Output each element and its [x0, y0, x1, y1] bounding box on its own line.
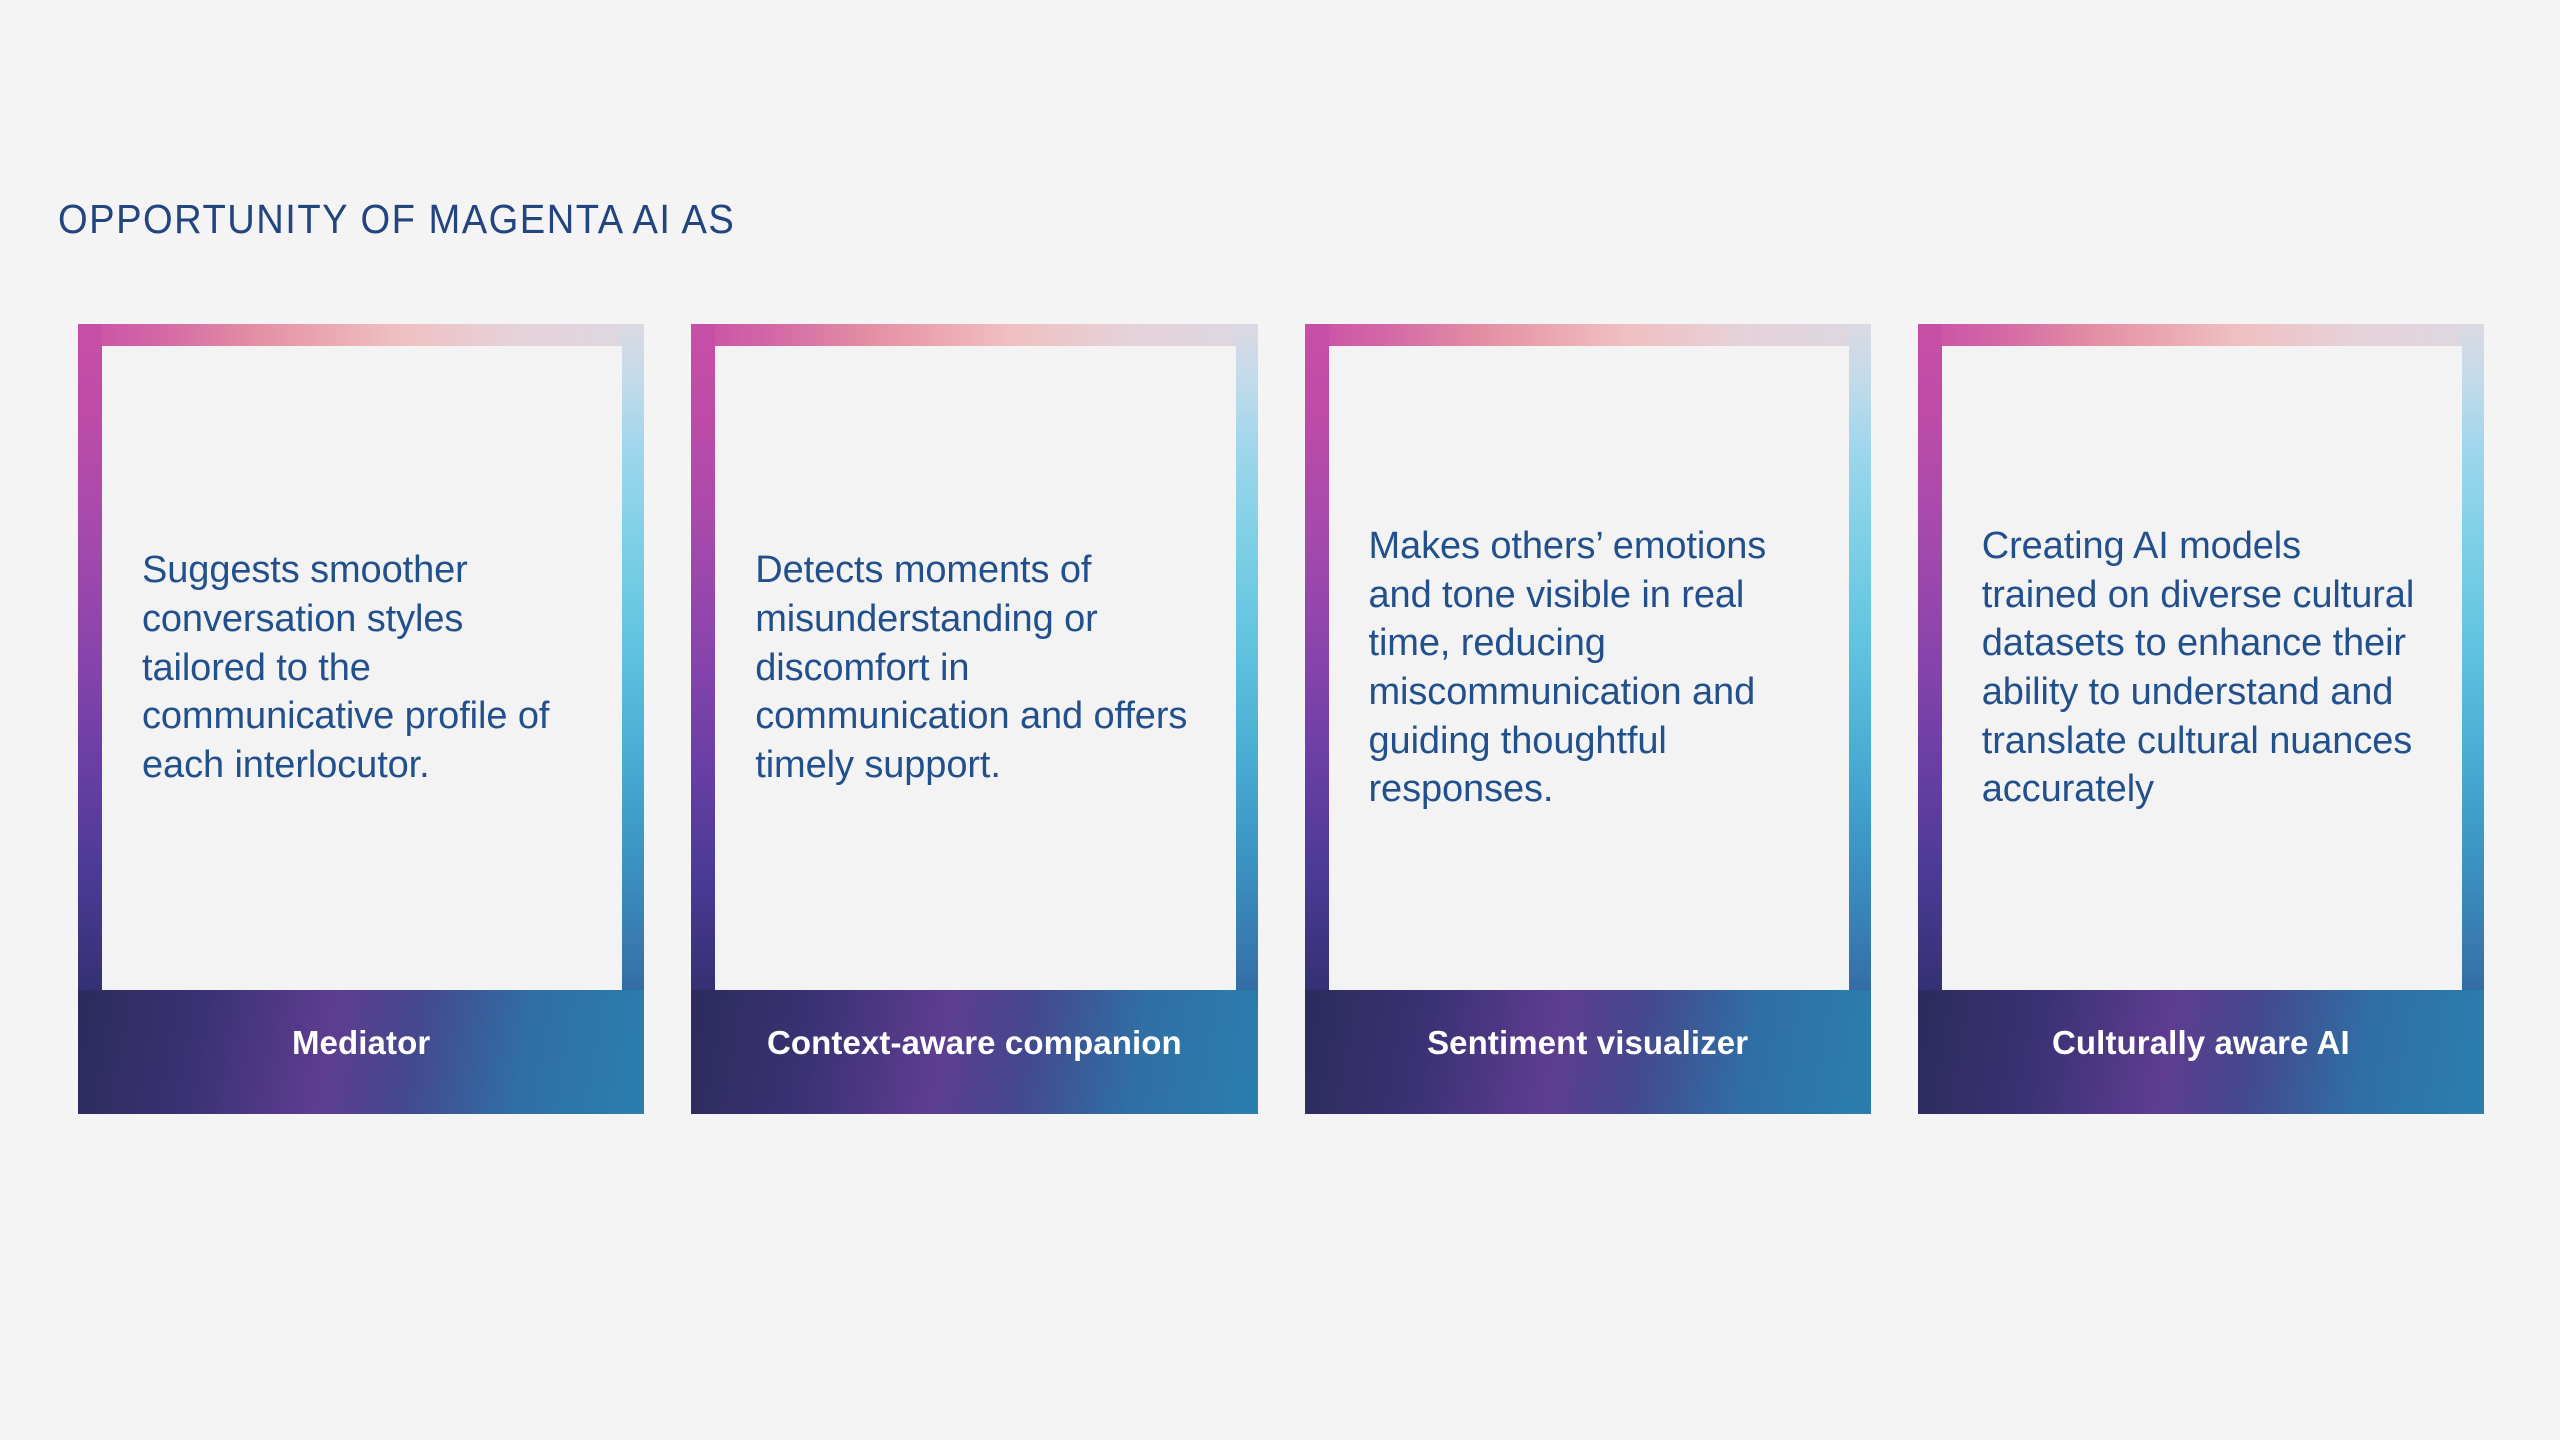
slide-canvas: OPPORTUNITY OF MAGENTA AI AS Suggests sm…: [0, 0, 2560, 1440]
card-body-text: Suggests smoother conversation styles ta…: [142, 546, 584, 789]
card-footer-band: Sentiment visualizer: [1305, 990, 1871, 1114]
card-footer-band: Mediator: [78, 990, 644, 1114]
card-body-panel: Makes others’ emotions and tone visible …: [1329, 346, 1849, 990]
card-body-text: Creating AI models trained on diverse cu…: [1982, 522, 2424, 814]
card-body-text: Detects moments of misunderstanding or d…: [755, 546, 1197, 789]
card-body-panel: Suggests smoother conversation styles ta…: [102, 346, 622, 990]
card-footer-label: Mediator: [292, 1024, 430, 1062]
card-frame-top-edge: [1918, 324, 2484, 346]
card-body-panel: Creating AI models trained on diverse cu…: [1942, 346, 2462, 990]
card-footer-band: Culturally aware AI: [1918, 990, 2484, 1114]
opportunity-card-mediator[interactable]: Suggests smoother conversation styles ta…: [78, 324, 644, 1114]
card-body-panel: Detects moments of misunderstanding or d…: [715, 346, 1235, 990]
opportunity-card-culturally-aware-ai[interactable]: Creating AI models trained on diverse cu…: [1918, 324, 2484, 1114]
card-footer-label: Sentiment visualizer: [1427, 1024, 1748, 1062]
opportunity-card-context-aware-companion[interactable]: Detects moments of misunderstanding or d…: [691, 324, 1257, 1114]
card-frame-top-edge: [1305, 324, 1871, 346]
opportunity-card-row: Suggests smoother conversation styles ta…: [78, 324, 2484, 1114]
opportunity-card-sentiment-visualizer[interactable]: Makes others’ emotions and tone visible …: [1305, 324, 1871, 1114]
card-frame-top-edge: [78, 324, 644, 346]
card-footer-band: Context-aware companion: [691, 990, 1257, 1114]
card-footer-label: Context-aware companion: [767, 1024, 1182, 1062]
card-frame-top-edge: [691, 324, 1257, 346]
card-footer-label: Culturally aware AI: [2052, 1024, 2350, 1062]
page-title: OPPORTUNITY OF MAGENTA AI AS: [58, 196, 735, 243]
card-body-text: Makes others’ emotions and tone visible …: [1369, 522, 1811, 814]
